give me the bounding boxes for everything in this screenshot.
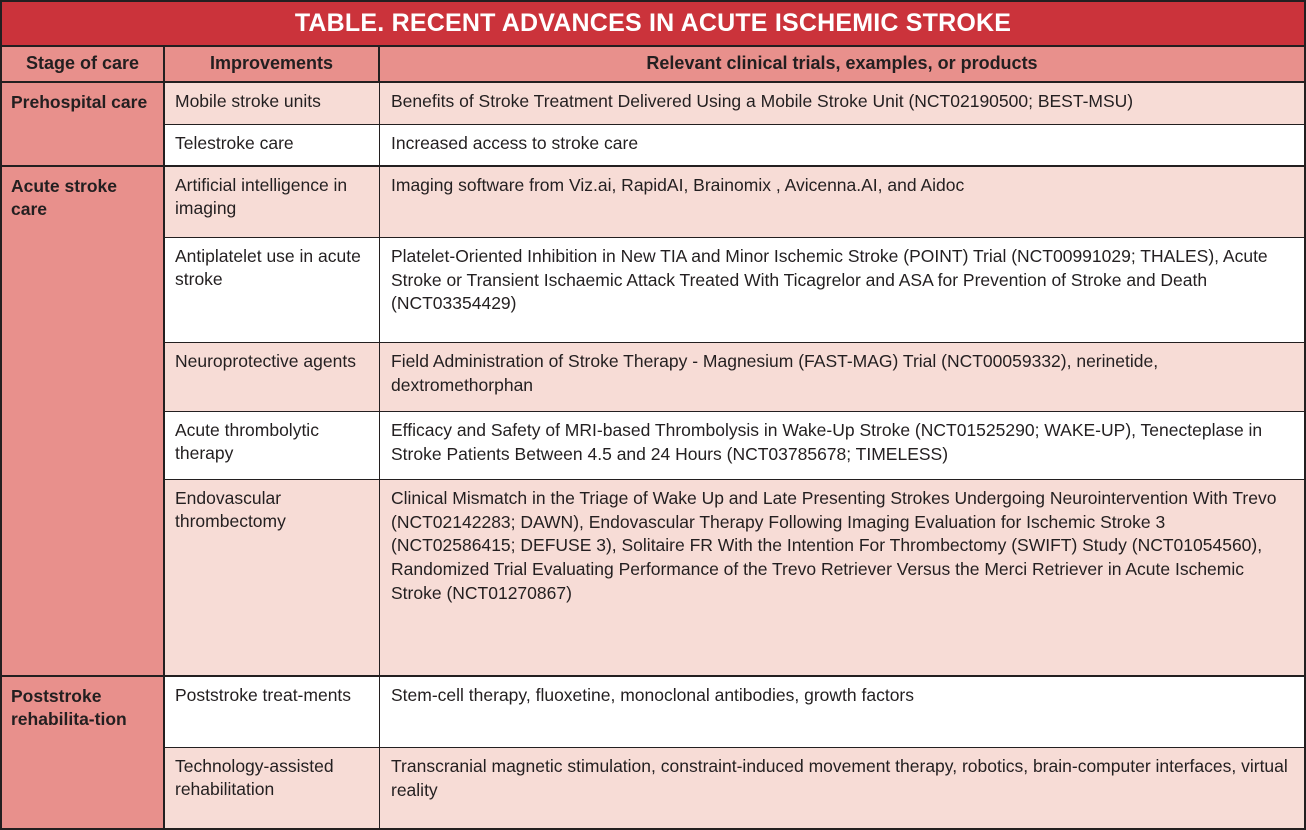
stage-of-care-cell: Prehospital care: [2, 83, 165, 165]
table-section: Poststroke rehabilita-tion Poststroke tr…: [2, 677, 1304, 828]
table-row: Endovascular thrombectomy Clinical Misma…: [165, 480, 1304, 675]
improvement-cell: Endovascular thrombectomy: [165, 480, 380, 675]
table-section: Acute stroke care Artificial intelligenc…: [2, 167, 1304, 677]
improvement-cell: Antiplatelet use in acute stroke: [165, 238, 380, 342]
section-rows: Poststroke treat-ments Stem-cell therapy…: [165, 677, 1304, 828]
table-row: Technology-assisted rehabilitation Trans…: [165, 748, 1304, 828]
improvement-cell: Neuroprotective agents: [165, 343, 380, 411]
column-header-stage-of-care: Stage of care: [2, 47, 165, 81]
table-row: Mobile stroke units Benefits of Stroke T…: [165, 83, 1304, 125]
table-row: Neuroprotective agents Field Administrat…: [165, 343, 1304, 412]
improvement-cell: Acute thrombolytic therapy: [165, 412, 380, 479]
table-title: TABLE. RECENT ADVANCES IN ACUTE ISCHEMIC…: [2, 2, 1304, 47]
section-rows: Artificial intelligence in imaging Imagi…: [165, 167, 1304, 675]
trials-cell: Stem-cell therapy, fluoxetine, monoclona…: [380, 677, 1304, 747]
trials-cell: Efficacy and Safety of MRI-based Thrombo…: [380, 412, 1304, 479]
improvement-cell: Mobile stroke units: [165, 83, 380, 124]
column-header-improvements: Improvements: [165, 47, 380, 81]
advances-table: TABLE. RECENT ADVANCES IN ACUTE ISCHEMIC…: [0, 0, 1306, 830]
section-rows: Mobile stroke units Benefits of Stroke T…: [165, 83, 1304, 165]
table-row: Acute thrombolytic therapy Efficacy and …: [165, 412, 1304, 480]
table-row: Artificial intelligence in imaging Imagi…: [165, 167, 1304, 238]
stage-of-care-cell: Poststroke rehabilita-tion: [2, 677, 165, 828]
table-row: Antiplatelet use in acute stroke Platele…: [165, 238, 1304, 343]
table-body: Prehospital care Mobile stroke units Ben…: [2, 83, 1304, 828]
column-header-relevant-trials: Relevant clinical trials, examples, or p…: [380, 47, 1304, 81]
table-row: Telestroke care Increased access to stro…: [165, 125, 1304, 165]
improvement-cell: Telestroke care: [165, 125, 380, 165]
trials-cell: Benefits of Stroke Treatment Delivered U…: [380, 83, 1304, 124]
improvement-cell: Poststroke treat-ments: [165, 677, 380, 747]
trials-cell: Platelet-Oriented Inhibition in New TIA …: [380, 238, 1304, 342]
stage-of-care-cell: Acute stroke care: [2, 167, 165, 675]
improvement-cell: Artificial intelligence in imaging: [165, 167, 380, 237]
table-section: Prehospital care Mobile stroke units Ben…: [2, 83, 1304, 167]
trials-cell: Increased access to stroke care: [380, 125, 1304, 165]
trials-cell: Transcranial magnetic stimulation, const…: [380, 748, 1304, 828]
trials-cell: Imaging software from Viz.ai, RapidAI, B…: [380, 167, 1304, 237]
table-row: Poststroke treat-ments Stem-cell therapy…: [165, 677, 1304, 748]
improvement-cell: Technology-assisted rehabilitation: [165, 748, 380, 828]
table-column-header-row: Stage of care Improvements Relevant clin…: [2, 47, 1304, 83]
trials-cell: Field Administration of Stroke Therapy -…: [380, 343, 1304, 411]
trials-cell: Clinical Mismatch in the Triage of Wake …: [380, 480, 1304, 675]
